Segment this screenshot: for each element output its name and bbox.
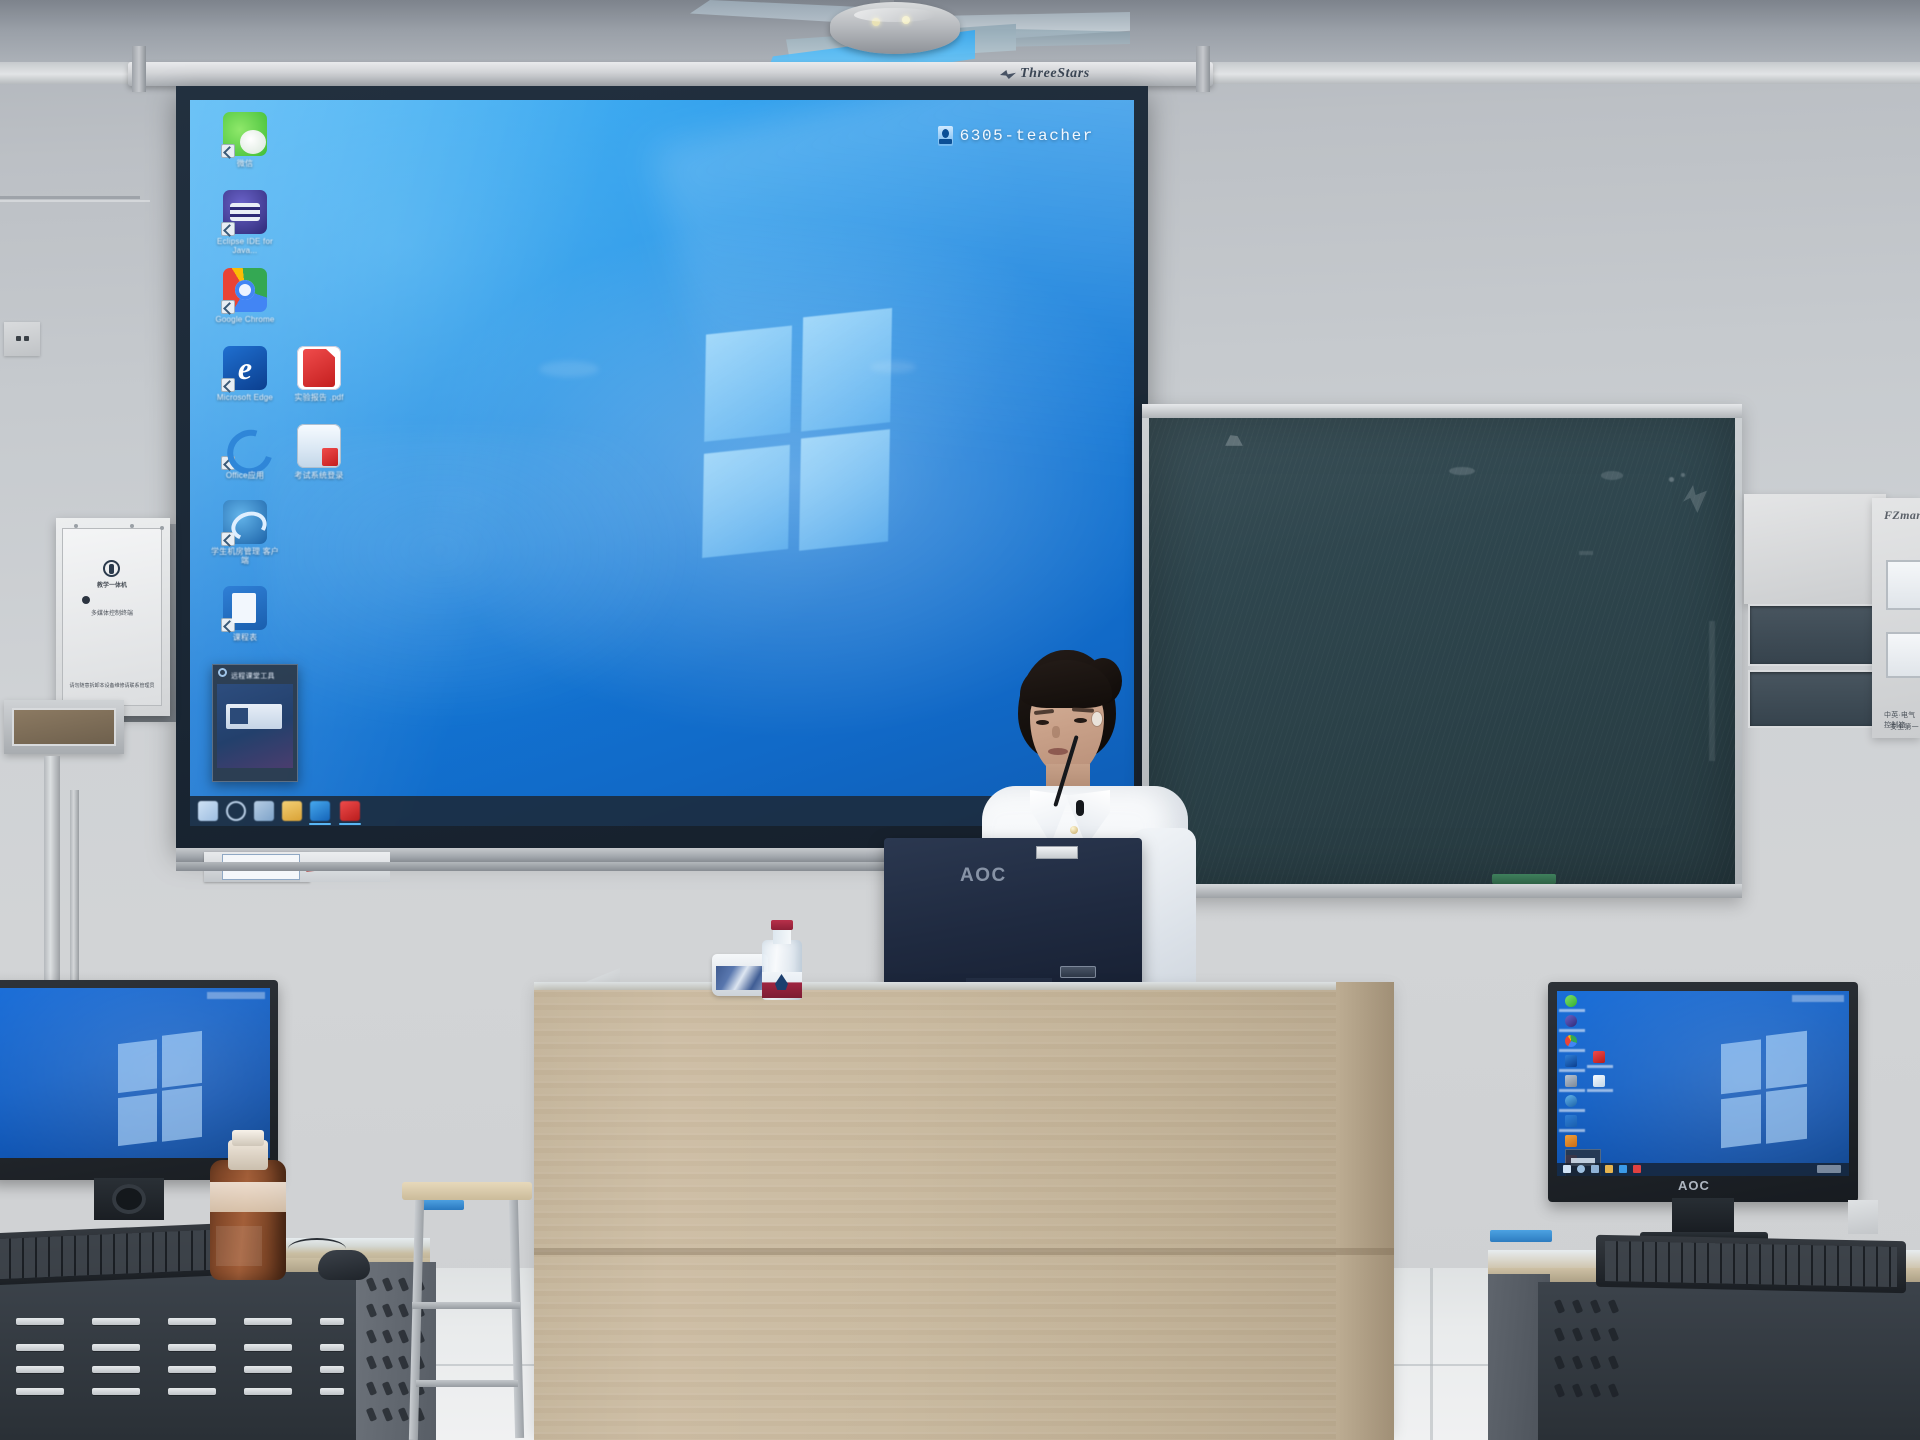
desktop-icon-lab-client[interactable]: 学生机房管理 客户端 [208,500,282,565]
left-session-badge [207,992,265,999]
left-monitor-stand [94,1178,164,1220]
windows-logo-wallpaper [702,315,892,563]
dark-window-panel-upper [1748,604,1882,666]
breaker-footer-line2: 安全第一 [1890,722,1919,732]
desktop-icon-label: Office应用 [208,471,282,480]
left-mouse[interactable] [318,1250,370,1280]
blackboard-surface [1149,411,1735,891]
desktop-icon-exam-login[interactable]: 考试系统登录 [282,424,356,480]
left-desk-side-panel [356,1262,436,1440]
desktop-icon-wechat[interactable] [1565,995,1577,1007]
teacher-monitor[interactable] [884,838,1142,986]
screen-bracket-right [1196,46,1210,92]
right-keyboard[interactable] [1596,1235,1906,1293]
start-icon[interactable] [1563,1165,1571,1173]
breaker-brand-label: FZman [1884,508,1920,523]
desktop-icon-lab-client[interactable] [1565,1095,1577,1107]
stool-label-tag [418,1200,464,1210]
desktop-icon-label: 学生机房管理 客户端 [208,547,282,565]
blue-label-tag [1490,1230,1552,1242]
left-keyboard[interactable] [0,1223,240,1286]
water-bottle[interactable] [762,920,802,1000]
control-box-button[interactable] [82,596,90,604]
tea-bottle-band [210,1182,286,1212]
dark-window-panel-lower [1748,670,1882,728]
thumbnail-window [226,704,282,729]
desktop-icon-label: Google Chrome [208,315,282,324]
wall-seam [0,196,140,199]
desktop-icon-pdf-report[interactable]: 实验报告 .pdf [282,346,356,402]
right-student-monitor[interactable] [1548,982,1858,1202]
task-view-icon[interactable] [1591,1165,1599,1173]
wall-outlet[interactable] [4,322,40,356]
desktop-icon-eclipse[interactable] [1565,1015,1577,1027]
cup-pattern [716,966,764,990]
right-monitor-brand-label: AOC [1678,1178,1710,1193]
start-icon[interactable] [198,801,218,821]
blackboard-chalk-tray [1142,884,1742,898]
desktop-icon-label: 微信 [208,159,282,168]
wall-seam-highlight [0,200,150,202]
desktop-icon-label: 考试系统登录 [282,471,356,480]
podium [534,990,1394,1440]
wall-conduit-pipe [44,756,60,1006]
stool-seat[interactable] [402,1182,532,1200]
right-monitor-screen[interactable] [1557,991,1849,1176]
blackboard-eraser[interactable] [1492,874,1556,884]
shortcut-arrow-icon [221,378,235,392]
desktop-icon-wechat[interactable]: 微信 [208,112,282,168]
session-label: 6305-teacher [960,127,1094,145]
classroom-scene: ThreeStars 微信 Eclipse IDE for Java... [0,0,1920,1440]
search-icon[interactable] [226,801,246,821]
desktop-icon-label: 课程表 [208,633,282,642]
windows-logo-wallpaper [118,1034,202,1148]
window-thumbnail[interactable] [217,684,293,768]
shortcut-arrow-icon [221,618,235,632]
podium-seam [534,1248,1394,1255]
desktop-icon-misc[interactable] [1565,1135,1577,1147]
right-session-badge [1792,995,1844,1002]
stool-footrest [416,1380,518,1387]
teacher-nose [1052,726,1060,738]
edge-browser-icon[interactable] [1619,1165,1627,1173]
desktop-icon-label: Microsoft Edge [208,393,282,402]
screen-bracket-left [132,46,146,92]
control-box-faceplate [62,528,162,706]
desktop-icon-chrome[interactable] [1565,1035,1577,1047]
headset-mic-tip [1076,800,1084,816]
control-box-brand: 教学一体机 [62,580,162,589]
teacher-mouth [1048,748,1068,755]
headset-earpiece-icon [1092,712,1102,726]
breaker-window-upper [1886,560,1920,610]
control-box-line1: 多媒体控制终端 [62,608,162,617]
desktop-icon-chrome[interactable]: Google Chrome [208,268,282,324]
podium-right-edge [1336,982,1394,1440]
desktop-icon-eclipse[interactable]: Eclipse IDE for Java... [208,190,282,255]
right-desk-panel [1538,1282,1920,1440]
monitor-brand-label: AOC [960,865,1007,887]
tea-bottle-label [216,1226,262,1266]
system-tray[interactable] [1817,1165,1841,1173]
search-icon[interactable] [1577,1165,1585,1173]
taskbar-preview-popup[interactable]: 远程课堂工具 [212,664,298,782]
session-badge: 6305-teacher [938,126,1094,146]
desktop-icon-schedule-doc[interactable]: 课程表 [208,586,282,642]
desktop-icon-schedule-doc[interactable] [1565,1115,1577,1127]
teacher-eye-left [1036,720,1049,725]
edge-browser-icon[interactable] [310,801,330,821]
wall-secondary-box [4,700,124,754]
desktop-icon-edge[interactable]: Microsoft Edge [208,346,282,402]
tea-bottle[interactable] [210,1130,286,1280]
control-box-footer: 请勿随意拆卸本设备维修请联系管理员 [62,682,162,689]
pdf-reader-icon[interactable] [1633,1165,1641,1173]
wall-panel-upper [1744,494,1886,604]
shortcut-arrow-icon [221,532,235,546]
monitor-asset-tag [1036,846,1078,859]
shortcut-arrow-icon [221,300,235,314]
shortcut-arrow-icon [221,222,235,236]
file-explorer-icon[interactable] [1605,1165,1613,1173]
projector-brand-label: ThreeStars [1020,66,1090,82]
user-badge-icon [938,126,953,146]
windows-logo-wallpaper [1721,1034,1807,1151]
teacher-necklace [1070,826,1078,834]
shortcut-arrow-icon [221,456,235,470]
desktop-icon-pdf-report[interactable] [1593,1051,1605,1063]
ceiling-fan-motor [830,2,960,54]
desktop-icon-exam-login[interactable] [1593,1075,1605,1087]
app-icon [218,668,227,677]
right-monitor-stand [1672,1198,1734,1236]
blackboard-top-rail [1142,404,1742,418]
shortcut-arrow-icon [221,144,235,158]
pdf-reader-icon[interactable] [340,801,360,821]
file-explorer-icon[interactable] [282,801,302,821]
right-wall-outlet[interactable] [1848,1200,1878,1234]
tea-bottle-cap [232,1130,264,1146]
preview-title: 远程课堂工具 [231,671,293,681]
desktop-icon-office[interactable] [1565,1075,1577,1087]
circle-logo-icon [103,560,120,577]
blackboard [1142,404,1742,898]
left-desk-vent-slots [6,1318,358,1428]
teacher-eye-right [1074,718,1087,723]
breaker-box[interactable] [1872,498,1920,738]
desktop-icon-label: 实验报告 .pdf [282,393,356,402]
desktop-icon-office[interactable]: Office应用 [208,424,282,480]
stool-crossbar [412,1302,520,1309]
monitor-port-panel [1060,966,1096,978]
bottle-cap [771,920,793,930]
breaker-window-lower [1886,632,1920,678]
desktop-icon-edge[interactable] [1565,1055,1577,1067]
taskbar[interactable] [1557,1163,1849,1176]
desktop-icon-label: Eclipse IDE for Java... [208,237,282,255]
task-view-icon[interactable] [254,801,274,821]
wall-conduit-pipe-small [70,790,79,1000]
